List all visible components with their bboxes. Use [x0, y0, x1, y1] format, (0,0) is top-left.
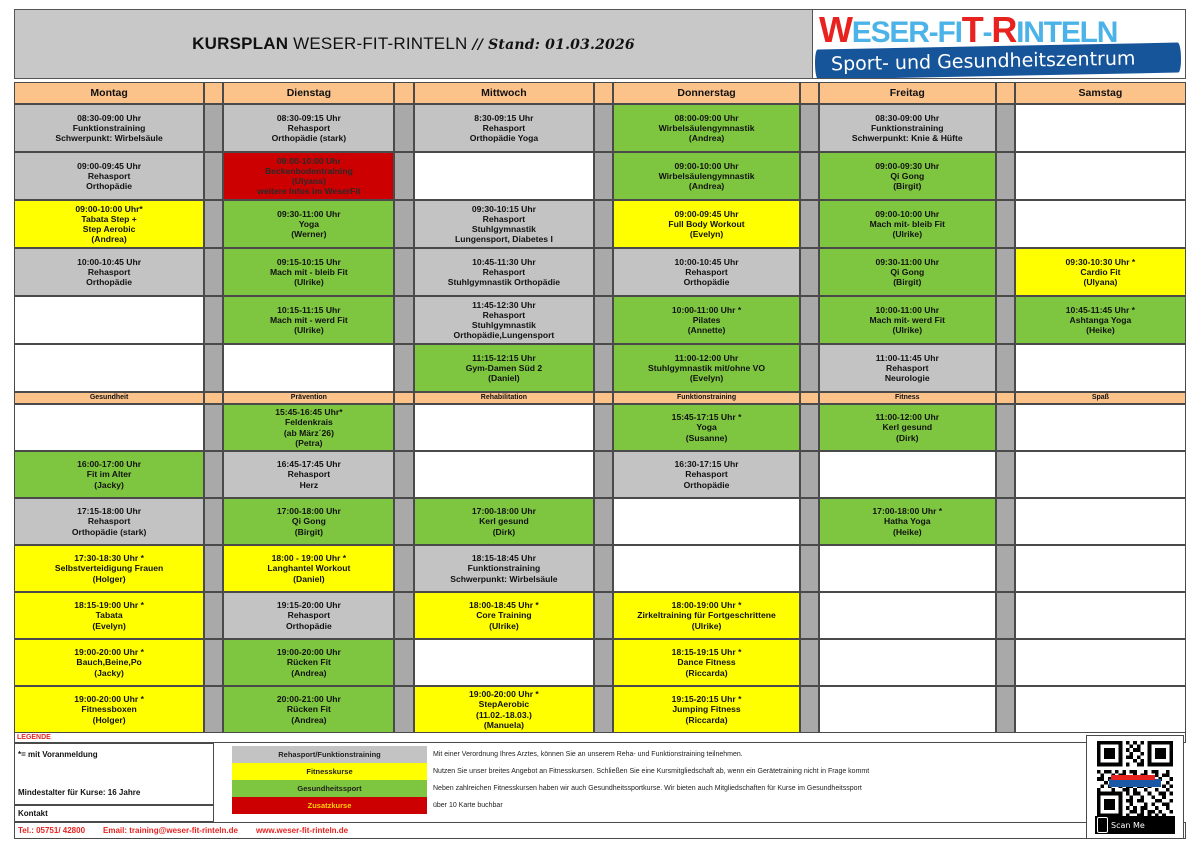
column-spacer: [800, 152, 819, 200]
course-cell[interactable]: 09:00-09:45 UhrFull Body Workout(Evelyn): [613, 200, 799, 248]
title-club: WESER-FIT-RINTELN: [293, 34, 467, 53]
legend-description: über 10 Karte buchbar: [427, 797, 1087, 814]
course-cell[interactable]: 11:15-12:15 UhrGym-Damen Süd 2(Daniel): [414, 344, 595, 392]
course-name: Rehasport: [86, 267, 133, 277]
empty-slot: [14, 296, 204, 344]
course-detail: (Ulrike): [487, 621, 521, 631]
course-cell[interactable]: 16:00-17:00 UhrFit im Alter(Jacky): [14, 451, 204, 498]
course-detail: (Dirk): [894, 433, 920, 443]
column-spacer: [204, 404, 223, 451]
day-header-montag: Montag: [14, 82, 204, 104]
course-detail: Step Aerobic: [81, 224, 138, 234]
course-cell[interactable]: 08:30-09:00 UhrFunktionstrainingSchwerpu…: [14, 104, 204, 152]
course-detail: (Werner): [289, 229, 328, 239]
column-spacer: [800, 104, 819, 152]
legend-description: Nutzen Sie unser breites Angebot an Fitn…: [427, 763, 1087, 780]
course-detail: (Ulrike): [890, 325, 924, 335]
empty-slot: [1015, 639, 1186, 686]
course-name: Yoga: [694, 422, 718, 432]
course-name: Langhantel Workout: [265, 563, 352, 573]
course-name: Bauch,Beine,Po: [74, 657, 143, 667]
logo: WESER-FIT-RINTELN Sport- und Gesundheits…: [813, 10, 1185, 78]
course-detail: (Petra): [293, 438, 324, 448]
course-time: 11:15-12:15 Uhr: [470, 353, 538, 363]
course-cell[interactable]: 18:15-19:15 Uhr *Dance Fitness(Riccarda): [613, 639, 799, 686]
schedule-row: 09:00-09:45 UhrRehasportOrthopädie09:00-…: [14, 152, 1186, 200]
course-name: Stuhlgymnastik mit/ohne VO: [646, 363, 767, 373]
course-time: 15:45-16:45 Uhr*: [273, 407, 344, 417]
course-cell[interactable]: 19:00-20:00 Uhr *StepAerobic(11.02.-18.0…: [414, 686, 595, 733]
course-name: Mach mit - werd Fit: [268, 315, 350, 325]
course-detail: (Daniel): [291, 574, 327, 584]
contact-phone: Tel.: 05751/ 42800: [18, 826, 85, 838]
course-cell[interactable]: 09:00-10:00 UhrBeckenbodentraining(Ulyan…: [223, 152, 394, 200]
course-detail: Schwerpunkt: Wirbelsäule: [448, 574, 559, 584]
course-name: Mach mit- bleib Fit: [868, 219, 947, 229]
course-cell[interactable]: 18:15-19:00 Uhr *Tabata(Evelyn): [14, 592, 204, 639]
empty-slot: [14, 404, 204, 451]
course-detail: (Birgit): [293, 527, 325, 537]
column-spacer: [996, 82, 1015, 104]
course-cell[interactable]: 11:00-12:00 UhrKerl gesund(Dirk): [819, 404, 996, 451]
course-detail: Herz: [298, 480, 321, 490]
course-name: Feldenkrais: [283, 417, 335, 427]
course-time: 8:30-09:15 Uhr: [472, 113, 535, 123]
column-spacer: [996, 545, 1015, 592]
qr-scan-label: Scan Me: [1095, 816, 1175, 834]
course-cell[interactable]: 08:30-09:15 UhrRehasportOrthopädie (star…: [223, 104, 394, 152]
column-spacer: [594, 296, 613, 344]
title-kursplan: KURSPLAN: [192, 34, 288, 53]
column-spacer: [800, 296, 819, 344]
legend-swatch: Fitnesskurse: [232, 763, 427, 780]
course-cell[interactable]: 10:00-10:45 UhrRehasportOrthopädie: [613, 248, 799, 296]
legend-section: LEGENDE *= mit Voranmeldung Mindestalter…: [14, 732, 1186, 840]
column-spacer: [594, 248, 613, 296]
column-spacer: [204, 200, 223, 248]
empty-slot: [414, 451, 595, 498]
course-name: Funktionstraining: [869, 123, 946, 133]
course-name: Rehasport: [481, 267, 528, 277]
course-name: StepAerobic: [477, 699, 532, 709]
course-detail: (Holger): [91, 715, 128, 725]
course-time: 08:30-09:00 Uhr: [75, 113, 143, 123]
course-name: Dance Fitness: [675, 657, 737, 667]
column-spacer: [996, 104, 1015, 152]
course-name: Wirbelsäulengymnastik: [657, 171, 757, 181]
day-header-mittwoch: Mittwoch: [414, 82, 595, 104]
column-spacer: [594, 392, 613, 404]
course-name: Hatha Yoga: [882, 516, 932, 526]
course-detail: (Ulrike): [292, 277, 326, 287]
course-cell[interactable]: 09:30-11:00 UhrQi Gong(Birgit): [819, 248, 996, 296]
course-cell[interactable]: 09:00-09:30 UhrQi Gong(Birgit): [819, 152, 996, 200]
qr-code-box[interactable]: Scan Me: [1086, 735, 1184, 839]
course-detail: (Evelyn): [688, 229, 725, 239]
course-name: Ashtanga Yoga: [1068, 315, 1134, 325]
contact-email[interactable]: Email: training@weser-fit-rinteln.de: [103, 826, 238, 838]
course-detail: (Riccarda): [684, 715, 730, 725]
course-time: 19:00-20:00 Uhr: [275, 647, 343, 657]
course-time: 09:00-09:45 Uhr: [75, 161, 143, 171]
course-time: 09:30-10:15 Uhr: [470, 204, 538, 214]
course-name: Jumping Fitness: [670, 704, 742, 714]
schedule-row: 19:00-20:00 Uhr *Bauch,Beine,Po(Jacky)19…: [14, 639, 1186, 686]
logo-eser: ESER-FI: [852, 16, 962, 49]
contact-website[interactable]: www.weser-fit-rinteln.de: [256, 826, 348, 838]
course-name: Rehasport: [286, 123, 333, 133]
course-detail: (Manuela): [482, 720, 526, 730]
column-spacer: [996, 344, 1015, 392]
column-spacer: [204, 545, 223, 592]
course-detail: (Ulyana): [1081, 277, 1119, 287]
empty-slot: [1015, 451, 1186, 498]
legend-description: Neben zahlreichen Fitnesskursen haben wi…: [427, 780, 1087, 797]
course-detail: (Annette): [686, 325, 728, 335]
column-spacer: [394, 545, 413, 592]
course-time: 09:00-10:00 Uhr: [275, 156, 343, 166]
course-cell[interactable]: 09:00-10:00 Uhr*Tabata Step +Step Aerobi…: [14, 200, 204, 248]
course-name: Qi Gong: [888, 267, 926, 277]
course-name: Rehasport: [683, 267, 730, 277]
empty-slot: [1015, 200, 1186, 248]
course-cell[interactable]: 19:00-20:00 Uhr *Fitnessboxen(Holger): [14, 686, 204, 733]
course-detail: (Dirk): [491, 527, 517, 537]
course-cell[interactable]: 09:30-10:30 Uhr *Cardio Fit(Ulyana): [1015, 248, 1186, 296]
course-detail: weitere Infos im WeserFit: [255, 186, 362, 196]
column-spacer: [394, 104, 413, 152]
day-header: MontagDienstagMittwochDonnerstagFreitagS…: [14, 82, 1186, 104]
course-name: Funktionstraining: [466, 563, 543, 573]
course-cell[interactable]: 16:45-17:45 UhrRehasportHerz: [223, 451, 394, 498]
legend-notes: *= mit Voranmeldung Mindestalter für Kur…: [14, 743, 214, 805]
title-stand: // Stand: 01.03.2026: [472, 37, 634, 53]
column-spacer: [394, 200, 413, 248]
category-header-freitag: Fitness: [819, 392, 996, 404]
course-cell[interactable]: 17:00-18:00 Uhr *Hatha Yoga(Heike): [819, 498, 996, 545]
course-detail: (Andrea): [289, 715, 328, 725]
empty-slot: [414, 152, 595, 200]
column-spacer: [394, 498, 413, 545]
empty-slot: [1015, 104, 1186, 152]
course-name: Beckenbodentraining: [263, 166, 355, 176]
schedule-row: 17:15-18:00 UhrRehasportOrthopädie (star…: [14, 498, 1186, 545]
course-time: 11:00-11:45 Uhr: [874, 353, 941, 363]
course-cell[interactable]: 09:00-10:00 UhrWirbelsäulengymnastik(And…: [613, 152, 799, 200]
course-detail: Orthopädie: [84, 277, 134, 287]
column-spacer: [594, 404, 613, 451]
course-name: Mach mit - bleib Fit: [268, 267, 350, 277]
column-spacer: [800, 344, 819, 392]
course-detail: (Andrea): [89, 234, 128, 244]
column-spacer: [996, 686, 1015, 733]
course-detail: (Evelyn): [688, 373, 725, 383]
course-time: 17:30-18:30 Uhr *: [72, 553, 146, 563]
course-time: 17:15-18:00 Uhr: [75, 506, 143, 516]
qr-code: Scan Me: [1091, 739, 1179, 835]
course-detail: (Ulrike): [690, 621, 724, 631]
course-name: Rehasport: [286, 469, 333, 479]
logo-t: T: [962, 10, 983, 50]
course-name: Rehasport: [481, 310, 528, 320]
schedule-row: 16:00-17:00 UhrFit im Alter(Jacky)16:45-…: [14, 451, 1186, 498]
course-name: Rehasport: [481, 123, 528, 133]
empty-slot: [1015, 404, 1186, 451]
column-spacer: [800, 686, 819, 733]
course-cell[interactable]: 15:45-17:15 Uhr *Yoga(Susanne): [613, 404, 799, 451]
legend-title: LEGENDE: [14, 732, 1186, 743]
course-detail: Stuhlgymnastik Orthopädie: [446, 277, 562, 287]
category-header-dienstag: Prävention: [223, 392, 394, 404]
course-detail: (Ulrike): [292, 325, 326, 335]
course-cell[interactable]: 10:00-10:45 UhrRehasportOrthopädie: [14, 248, 204, 296]
empty-slot: [819, 545, 996, 592]
course-name: Rücken Fit: [285, 657, 333, 667]
course-cell[interactable]: 09:30-11:00 UhrYoga(Werner): [223, 200, 394, 248]
column-spacer: [594, 592, 613, 639]
column-spacer: [204, 451, 223, 498]
course-cell[interactable]: 10:00-11:00 Uhr *Pilates(Annette): [613, 296, 799, 344]
column-spacer: [394, 248, 413, 296]
column-spacer: [996, 498, 1015, 545]
course-cell[interactable]: 16:30-17:15 UhrRehasportOrthopädie: [613, 451, 799, 498]
column-spacer: [996, 592, 1015, 639]
legend-description: Mit einer Verordnung Ihres Arztes, könne…: [427, 746, 1087, 763]
column-spacer: [996, 248, 1015, 296]
column-spacer: [204, 686, 223, 733]
course-time: 19:00-20:00 Uhr *: [467, 689, 541, 699]
course-cell[interactable]: 18:00-18:45 Uhr *Core Training(Ulrike): [414, 592, 595, 639]
course-cell[interactable]: 10:15-11:15 UhrMach mit - werd Fit(Ulrik…: [223, 296, 394, 344]
schedule-row: 09:00-10:00 Uhr*Tabata Step +Step Aerobi…: [14, 200, 1186, 248]
empty-slot: [819, 592, 996, 639]
course-cell[interactable]: 20:00-21:00 UhrRücken Fit(Andrea): [223, 686, 394, 733]
course-time: 17:00-18:00 Uhr *: [870, 506, 944, 516]
column-spacer: [800, 592, 819, 639]
course-cell[interactable]: 08:30-09:00 UhrFunktionstrainingSchwerpu…: [819, 104, 996, 152]
column-spacer: [800, 392, 819, 404]
course-time: 16:30-17:15 Uhr: [673, 459, 741, 469]
course-detail: (Heike): [1084, 325, 1117, 335]
course-time: 16:00-17:00 Uhr: [75, 459, 143, 469]
course-detail: (Birgit): [891, 181, 923, 191]
schedule-grid: MontagDienstagMittwochDonnerstagFreitagS…: [14, 82, 1186, 730]
course-cell[interactable]: 11:45-12:30 UhrRehasportStuhlgymnastikOr…: [414, 296, 595, 344]
course-time: 18:15-19:00 Uhr *: [72, 600, 146, 610]
course-cell[interactable]: 10:45-11:30 UhrRehasportStuhlgymnastik O…: [414, 248, 595, 296]
course-time: 09:30-11:00 Uhr: [275, 209, 343, 219]
category-header-donnerstag: Funktionstraining: [613, 392, 799, 404]
qr-scan-text: Scan Me: [1111, 821, 1145, 830]
course-name: Qi Gong: [888, 171, 926, 181]
course-cell[interactable]: 09:30-10:15 UhrRehasportStuhlgymnastikLu…: [414, 200, 595, 248]
course-time: 18:00-18:45 Uhr *: [467, 600, 541, 610]
column-spacer: [996, 200, 1015, 248]
course-cell[interactable]: 19:00-20:00 Uhr *Bauch,Beine,Po(Jacky): [14, 639, 204, 686]
course-name: Wirbelsäulengymnastik: [657, 123, 757, 133]
course-cell[interactable]: 15:45-16:45 Uhr*Feldenkrais(ab März´26)(…: [223, 404, 394, 451]
column-spacer: [394, 82, 413, 104]
course-detail: Orthopädie (stark): [270, 133, 349, 143]
column-spacer: [394, 639, 413, 686]
course-detail: Orthopädie: [682, 277, 732, 287]
course-cell[interactable]: 18:00-19:00 Uhr *Zirkeltraining für Fort…: [613, 592, 799, 639]
course-name: Gym-Damen Süd 2: [464, 363, 544, 373]
course-cell[interactable]: 09:15-10:15 UhrMach mit - bleib Fit(Ulri…: [223, 248, 394, 296]
course-detail: Schwerpunkt: Knie & Hüfte: [850, 133, 965, 143]
column-spacer: [800, 248, 819, 296]
course-cell[interactable]: 09:00-09:45 UhrRehasportOrthopädie: [14, 152, 204, 200]
phone-icon: [1097, 817, 1108, 833]
course-detail: Neurologie: [883, 373, 932, 383]
course-detail: Orthopädie: [284, 621, 334, 631]
course-detail: Schwerpunkt: Wirbelsäule: [53, 133, 164, 143]
course-cell[interactable]: 8:30-09:15 UhrRehasportOrthopädie Yoga: [414, 104, 595, 152]
schedule-row: 15:45-16:45 Uhr*Feldenkrais(ab März´26)(…: [14, 404, 1186, 451]
column-spacer: [594, 344, 613, 392]
column-spacer: [996, 451, 1015, 498]
course-time: 09:30-11:00 Uhr: [874, 257, 942, 267]
course-cell[interactable]: 19:00-20:00 UhrRücken Fit(Andrea): [223, 639, 394, 686]
course-cell[interactable]: 17:00-18:00 UhrQi Gong(Birgit): [223, 498, 394, 545]
course-time: 11:00-12:00 Uhr: [874, 412, 942, 422]
day-header-freitag: Freitag: [819, 82, 996, 104]
course-detail: (Daniel): [486, 373, 522, 383]
course-cell[interactable]: 17:00-18:00 UhrKerl gesund(Dirk): [414, 498, 595, 545]
course-cell[interactable]: 08:00-09:00 UhrWirbelsäulengymnastik(And…: [613, 104, 799, 152]
course-detail: Orthopädie: [682, 480, 732, 490]
schedule-row: 08:30-09:00 UhrFunktionstrainingSchwerpu…: [14, 104, 1186, 152]
empty-slot: [613, 545, 799, 592]
course-cell[interactable]: 18:00 - 19:00 Uhr *Langhantel Workout(Da…: [223, 545, 394, 592]
course-name: Kerl gesund: [880, 422, 934, 432]
course-cell[interactable]: 19:15-20:00 UhrRehasportOrthopädie: [223, 592, 394, 639]
schedule-row: 18:15-19:00 Uhr *Tabata(Evelyn)19:15-20:…: [14, 592, 1186, 639]
column-spacer: [800, 404, 819, 451]
course-time: 09:00-10:00 Uhr*: [73, 204, 144, 214]
course-cell[interactable]: 09:00-10:00 UhrMach mit- bleib Fit(Ulrik…: [819, 200, 996, 248]
empty-slot: [1015, 545, 1186, 592]
empty-slot: [1015, 344, 1186, 392]
empty-slot: [1015, 592, 1186, 639]
course-name: Fit im Alter: [85, 469, 134, 479]
legend-swatch-column: Rehasport/FunktionstrainingFitnesskurseG…: [232, 746, 427, 814]
column-spacer: [594, 451, 613, 498]
course-cell[interactable]: 18:15-18:45 UhrFunktionstrainingSchwerpu…: [414, 545, 595, 592]
course-detail: (Holger): [91, 574, 128, 584]
schedule-row: 10:15-11:15 UhrMach mit - werd Fit(Ulrik…: [14, 296, 1186, 344]
column-spacer: [394, 344, 413, 392]
empty-slot: [223, 344, 394, 392]
course-detail: (Birgit): [891, 277, 923, 287]
qr-logo-overlay: [1109, 779, 1161, 787]
course-time: 16:45-17:45 Uhr: [275, 459, 343, 469]
column-spacer: [594, 545, 613, 592]
column-spacer: [800, 498, 819, 545]
column-spacer: [594, 498, 613, 545]
course-time: 11:45-12:30 Uhr: [470, 300, 538, 310]
page-header: KURSPLAN WESER-FIT-RINTELN // Stand: 01.…: [14, 9, 1186, 79]
course-cell[interactable]: 11:00-11:45 UhrRehasportNeurologie: [819, 344, 996, 392]
course-cell[interactable]: 10:45-11:45 Uhr *Ashtanga Yoga(Heike): [1015, 296, 1186, 344]
course-cell[interactable]: 17:15-18:00 UhrRehasportOrthopädie (star…: [14, 498, 204, 545]
course-detail: (Susanne): [684, 433, 730, 443]
course-name: Rehasport: [481, 214, 528, 224]
course-name: Full Body Workout: [666, 219, 746, 229]
note-minimum-age: Mindestalter für Kurse: 16 Jahre: [18, 788, 140, 797]
logo-dash: -: [983, 16, 992, 49]
course-cell[interactable]: 11:00-12:00 UhrStuhlgymnastik mit/ohne V…: [613, 344, 799, 392]
column-spacer: [594, 200, 613, 248]
course-time: 08:30-09:15 Uhr: [275, 113, 343, 123]
page-title: KURSPLAN WESER-FIT-RINTELN // Stand: 01.…: [192, 34, 635, 54]
course-time: 18:15-18:45 Uhr: [470, 553, 538, 563]
course-cell[interactable]: 17:30-18:30 Uhr *Selbstverteidigung Frau…: [14, 545, 204, 592]
course-name: Kerl gesund: [477, 516, 531, 526]
schedule-row: 19:00-20:00 Uhr *Fitnessboxen(Holger)20:…: [14, 686, 1186, 733]
category-header-montag: Gesundheit: [14, 392, 204, 404]
empty-slot: [414, 404, 595, 451]
column-spacer: [394, 686, 413, 733]
legend-swatch: Rehasport/Funktionstraining: [232, 746, 427, 763]
day-header-dienstag: Dienstag: [223, 82, 394, 104]
course-time: 08:00-09:00 Uhr: [673, 113, 741, 123]
course-detail: Orthopädie (stark): [70, 527, 149, 537]
course-name: Core Training: [474, 610, 533, 620]
contact-label: Kontakt: [14, 805, 214, 822]
column-spacer: [204, 82, 223, 104]
column-spacer: [394, 404, 413, 451]
course-time: 10:00-10:45 Uhr: [75, 257, 143, 267]
course-name: Rehasport: [683, 469, 730, 479]
course-name: Rehasport: [86, 516, 133, 526]
contact-line: Tel.: 05751/ 42800 Email: training@weser…: [14, 822, 1186, 839]
empty-slot: [819, 639, 996, 686]
course-name: Rücken Fit: [285, 704, 333, 714]
legend-swatch: Zusatzkurse: [232, 797, 427, 814]
course-cell[interactable]: 10:00-11:00 UhrMach mit- werd Fit(Ulrike…: [819, 296, 996, 344]
course-time: 19:00-20:00 Uhr *: [72, 647, 146, 657]
course-name: Cardio Fit: [1078, 267, 1122, 277]
course-name: Tabata: [94, 610, 125, 620]
column-spacer: [204, 639, 223, 686]
logo-r: R: [991, 10, 1016, 50]
course-time: 18:00 - 19:00 Uhr *: [270, 553, 349, 563]
course-time: 10:00-11:00 Uhr: [874, 305, 942, 315]
course-time: 11:00-12:00 Uhr: [673, 353, 741, 363]
empty-slot: [414, 639, 595, 686]
column-spacer: [996, 639, 1015, 686]
course-time: 09:00-09:30 Uhr: [873, 161, 941, 171]
course-name: Pilates: [691, 315, 723, 325]
course-name: Fitnessboxen: [79, 704, 138, 714]
column-spacer: [204, 498, 223, 545]
note-preregistration: *= mit Voranmeldung: [18, 750, 98, 759]
course-time: 10:15-11:15 Uhr: [275, 305, 343, 315]
course-detail: (Andrea): [289, 668, 328, 678]
course-detail: (Jacky): [92, 480, 126, 490]
course-cell[interactable]: 19:15-20:15 Uhr *Jumping Fitness(Riccard…: [613, 686, 799, 733]
course-time: 15:45-17:15 Uhr *: [670, 412, 744, 422]
column-spacer: [800, 639, 819, 686]
legend-swatch: Gesundheitssport: [232, 780, 427, 797]
course-detail: (Jacky): [92, 668, 126, 678]
course-name: Tabata Step +: [79, 214, 138, 224]
course-detail: Stuhlgymnastik: [470, 224, 538, 234]
course-detail: Orthopädie: [84, 181, 134, 191]
column-spacer: [204, 392, 223, 404]
course-time: 10:00-10:45 Uhr: [673, 257, 741, 267]
